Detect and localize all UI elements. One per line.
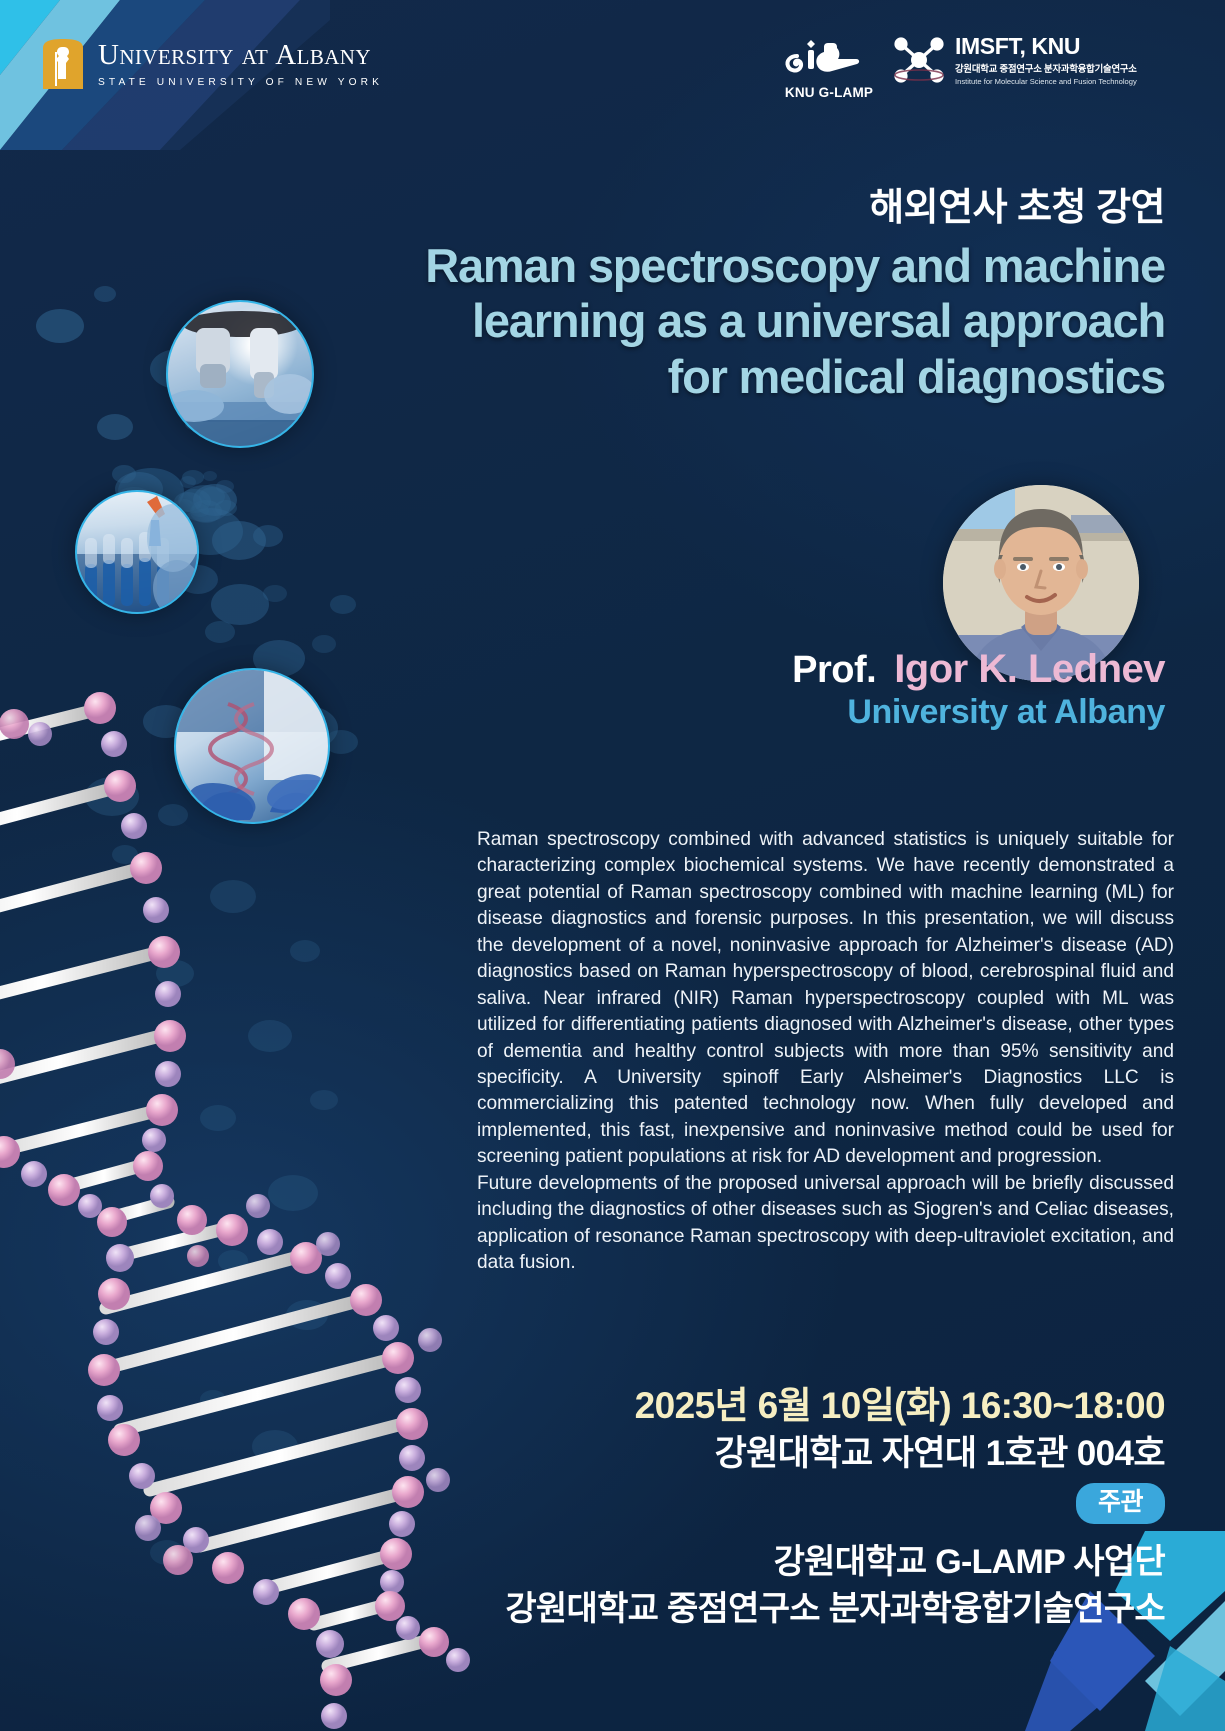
lamp-icon — [783, 36, 875, 76]
ualbany-wordmark: UNIVERSITYATALBANY STATE UNIVERSITY OF N… — [98, 41, 383, 88]
poster-canvas: UNIVERSITYATALBANY STATE UNIVERSITY OF N… — [0, 0, 1225, 1731]
abstract-paragraph-2: Future developments of the proposed univ… — [477, 1171, 1174, 1277]
knu-glamp-logo: KNU G-LAMP — [774, 36, 884, 100]
imsft-wordmark: IMSFT, KNU 강원대학교 중점연구소 분자과학융합기술연구소 Insti… — [955, 35, 1137, 86]
speaker-affiliation: University at Albany — [847, 693, 1165, 732]
event-datetime: 2025년 6월 10일(화) 16:30~18:00 — [635, 1375, 1165, 1429]
knu-glamp-label: KNU G-LAMP — [774, 85, 884, 100]
kicker-heading: 해외연사 초청 강연 — [869, 176, 1165, 231]
ualbany-shield-icon — [42, 38, 84, 90]
page-title: Raman spectroscopy and machine learning … — [265, 238, 1165, 404]
molecule-icon — [892, 33, 946, 87]
imsft-english-name: Institute for Molecular Science and Fusi… — [955, 77, 1137, 86]
ualbany-logo: UNIVERSITYATALBANY STATE UNIVERSITY OF N… — [42, 38, 383, 90]
event-venue: 강원대학교 자연대 1호관 004호 — [715, 1425, 1165, 1476]
dna-hands-photo — [174, 668, 330, 824]
ualbany-name: UNIVERSITYATALBANY — [98, 41, 383, 70]
test-tubes-photo — [75, 490, 199, 614]
speaker-name: Igor K. Lednev — [894, 647, 1165, 691]
speaker-honorific: Prof. — [792, 649, 876, 691]
title-line-3: for medical diagnostics — [265, 349, 1165, 404]
host-organization-1: 강원대학교 G-LAMP 사업단 — [774, 1534, 1165, 1583]
title-line-2: learning as a universal approach — [265, 293, 1165, 348]
title-line-1: Raman spectroscopy and machine — [265, 238, 1165, 293]
imsft-title: IMSFT, KNU — [955, 35, 1137, 58]
host-organization-2: 강원대학교 중점연구소 분자과학융합기술연구소 — [505, 1581, 1165, 1630]
imsft-korean-name: 강원대학교 중점연구소 분자과학융합기술연구소 — [955, 61, 1137, 75]
speaker-name-line: Prof.Igor K. Lednev — [792, 647, 1165, 692]
host-badge: 주관 — [1076, 1483, 1165, 1524]
abstract-paragraph-1: Raman spectroscopy combined with advance… — [477, 827, 1174, 1171]
ualbany-subtitle: STATE UNIVERSITY OF NEW YORK — [98, 77, 383, 88]
imsft-logo: IMSFT, KNU 강원대학교 중점연구소 분자과학융합기술연구소 Insti… — [892, 33, 1137, 87]
abstract-text: Raman spectroscopy combined with advance… — [477, 827, 1174, 1276]
